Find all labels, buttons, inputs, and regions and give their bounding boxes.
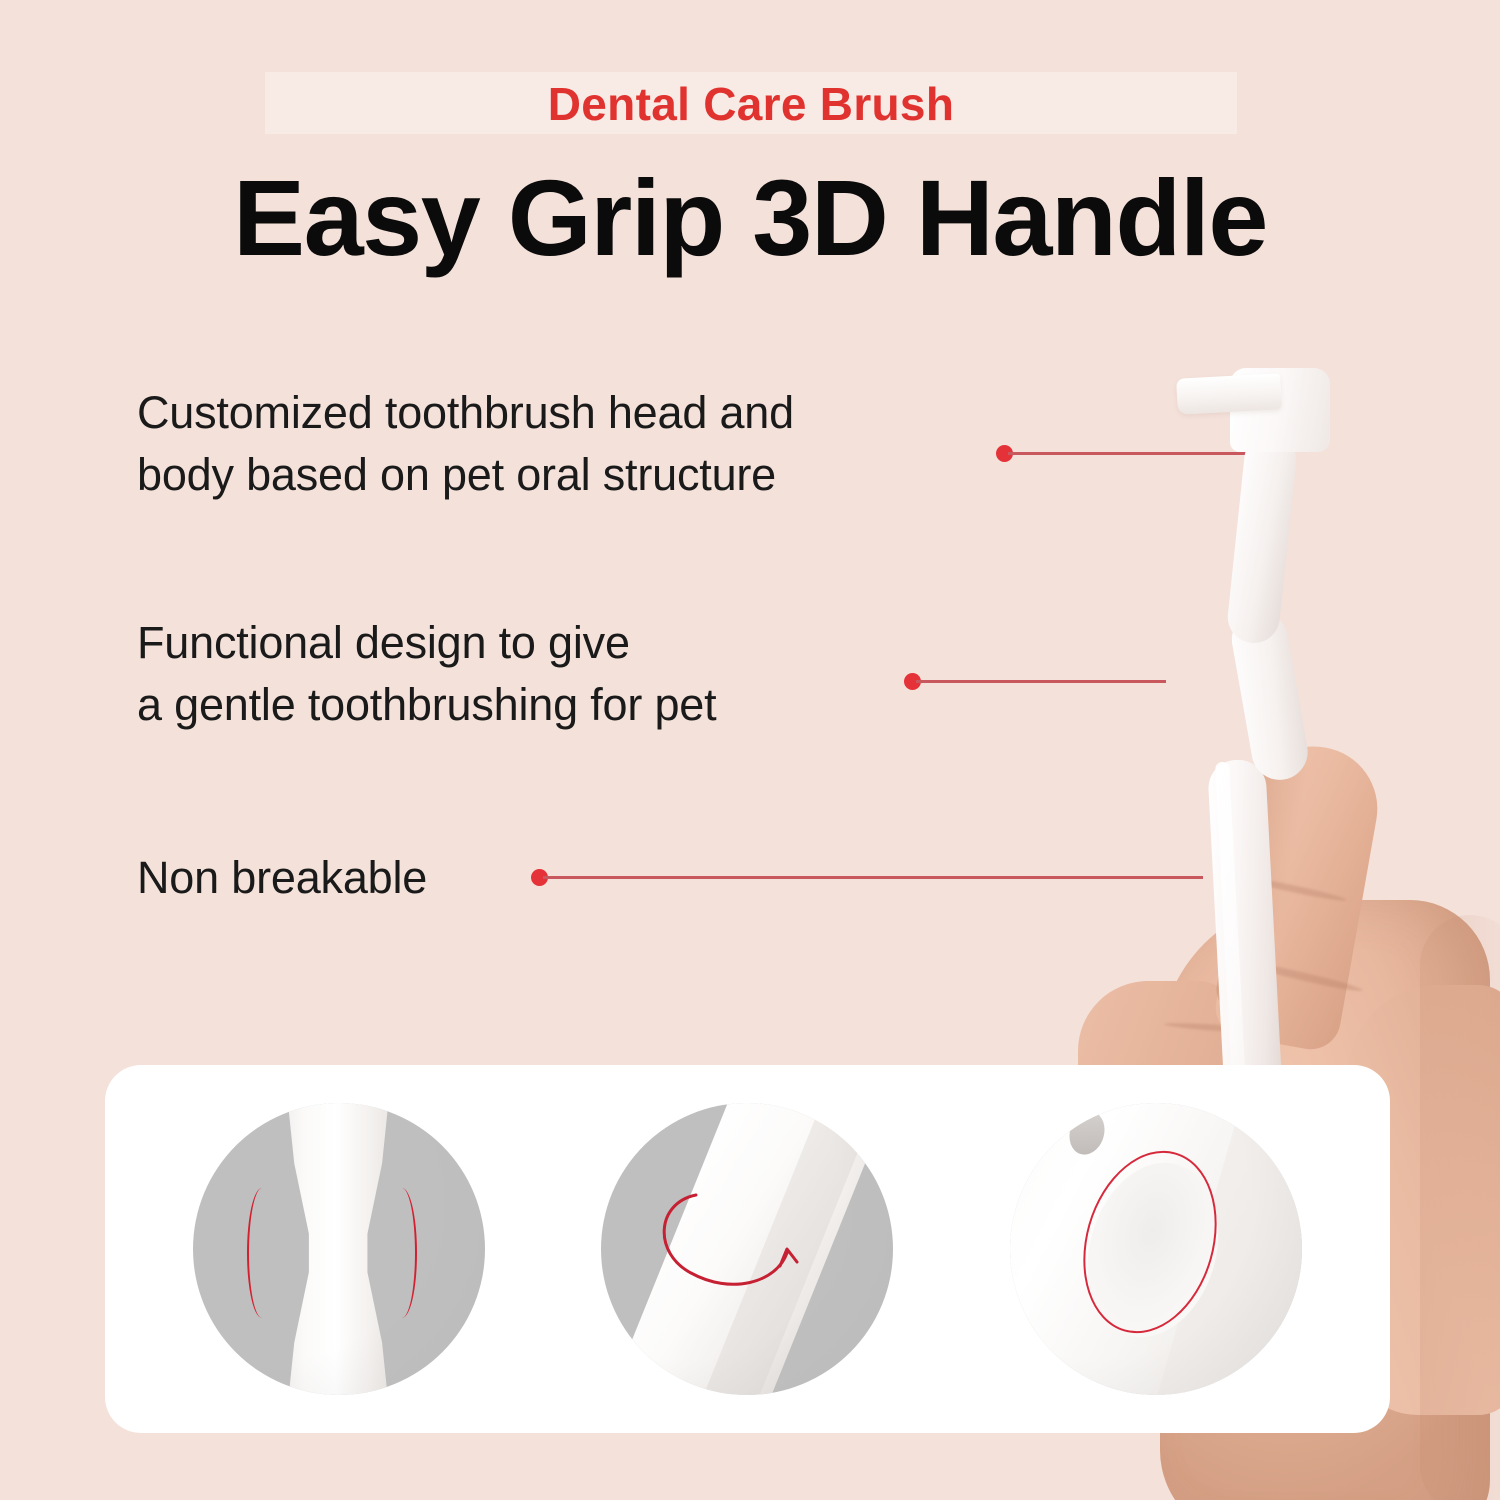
callout-rule-2 (916, 680, 1166, 683)
circle-vignette (601, 1103, 893, 1395)
eyebrow-title: Dental Care Brush (265, 76, 1237, 132)
hand-edge-shading (1420, 915, 1500, 1500)
brush-head-tip (1176, 373, 1282, 414)
infographic-canvas: Dental Care Brush Easy Grip 3D Handle Cu… (0, 0, 1500, 1500)
feature-text-2: Functional design to give a gentle tooth… (137, 612, 716, 736)
circle-vignette (193, 1103, 485, 1395)
circle-vignette (1010, 1103, 1302, 1395)
feature-text-1: Customized toothbrush head and body base… (137, 382, 794, 506)
detail-circle-rotation-grip (601, 1103, 893, 1395)
pet-toothbrush (1155, 362, 1375, 1102)
brush-neck-upper (1225, 431, 1299, 645)
page-title: Easy Grip 3D Handle (0, 158, 1500, 278)
detail-circle-thumb-rest (1010, 1103, 1302, 1395)
feature-text-3: Non breakable (137, 847, 427, 909)
detail-circle-row (105, 1065, 1390, 1433)
detail-circle-contoured-waist (193, 1103, 485, 1395)
detail-card (105, 1065, 1390, 1433)
